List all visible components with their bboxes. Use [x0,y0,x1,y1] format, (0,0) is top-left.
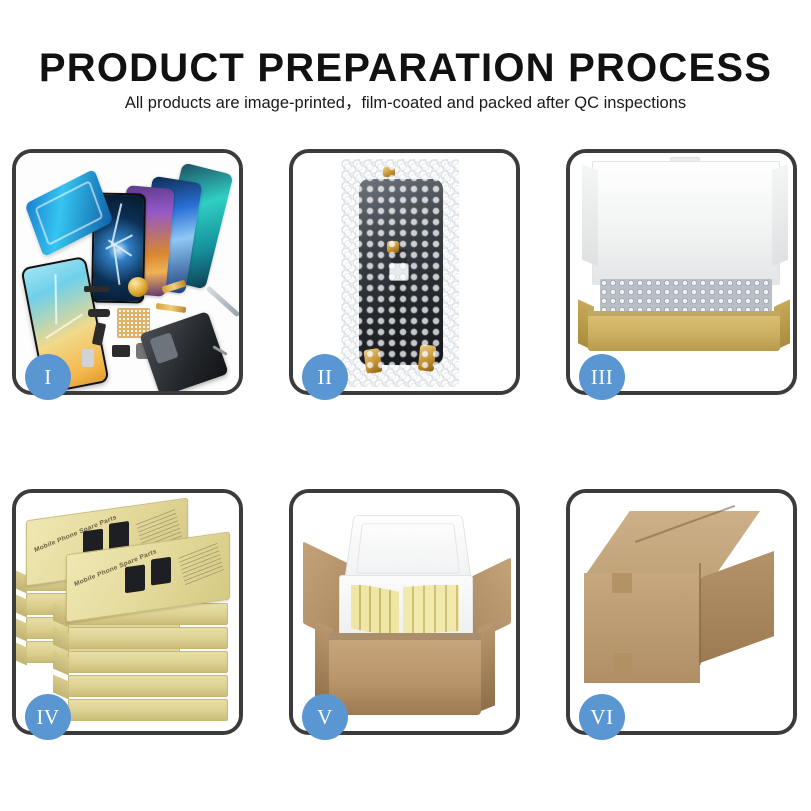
carton-front-face [584,573,700,683]
product-preparation-infographic: PRODUCT PREPARATION PROCESS All products… [0,0,811,811]
process-step-6[interactable]: VI [566,489,797,735]
page-subtitle: All products are image-printed，film-coat… [0,92,811,114]
packed-boxes-row [347,585,463,635]
box-screen-graphic [151,557,171,586]
step-badge-6: VI [579,694,625,740]
phone-back-housing [139,311,229,391]
bubble-wrap-overlay [341,159,459,387]
box-screen-graphic [125,564,145,593]
crack-line [113,245,121,285]
step-badge-3: III [579,354,625,400]
flex-cable [156,303,187,313]
stacked-box [68,651,228,673]
stacked-box [68,675,228,697]
process-step-1[interactable]: I [12,149,243,395]
box-front-wall [588,311,780,351]
process-step-5[interactable]: V [289,489,520,735]
vibration-motor [128,277,148,297]
process-step-2[interactable]: II [289,149,520,395]
step-badge-4: IV [25,694,71,740]
carton-corner-edge [699,563,701,665]
carton-tape-patch [614,653,632,675]
tweezers [206,286,239,318]
stacked-box [68,627,228,649]
packed-box-group-left [351,585,399,635]
box-lid-left-flap [582,164,598,266]
retail-box-stack: Mobile Phone Spare Parts Mobile Phone Sp… [24,507,232,719]
packed-box-group-right [403,585,459,635]
crack-line [45,313,83,339]
camera-module [112,345,130,357]
step-badge-2: II [302,354,348,400]
box-spec-lines [177,540,224,587]
connector-part [88,309,110,317]
box-lid-panel [592,161,780,285]
process-step-3[interactable]: III [566,149,797,395]
step-badge-5: V [302,694,348,740]
process-step-grid: I II [12,149,800,749]
process-step-4[interactable]: Mobile Phone Spare Parts Mobile Phone Sp… [12,489,243,735]
crack-line [54,274,57,324]
stacked-box [68,699,228,721]
sim-tray [82,349,94,367]
box-lid-right-flap [772,164,788,266]
carton-tape-patch [612,573,632,593]
step-badge-1: I [25,354,71,400]
earpiece-speaker [84,286,110,292]
carton-front-wall [329,633,481,715]
bubble-wrapped-contents [600,279,772,315]
page-title: PRODUCT PREPARATION PROCESS [0,45,811,91]
